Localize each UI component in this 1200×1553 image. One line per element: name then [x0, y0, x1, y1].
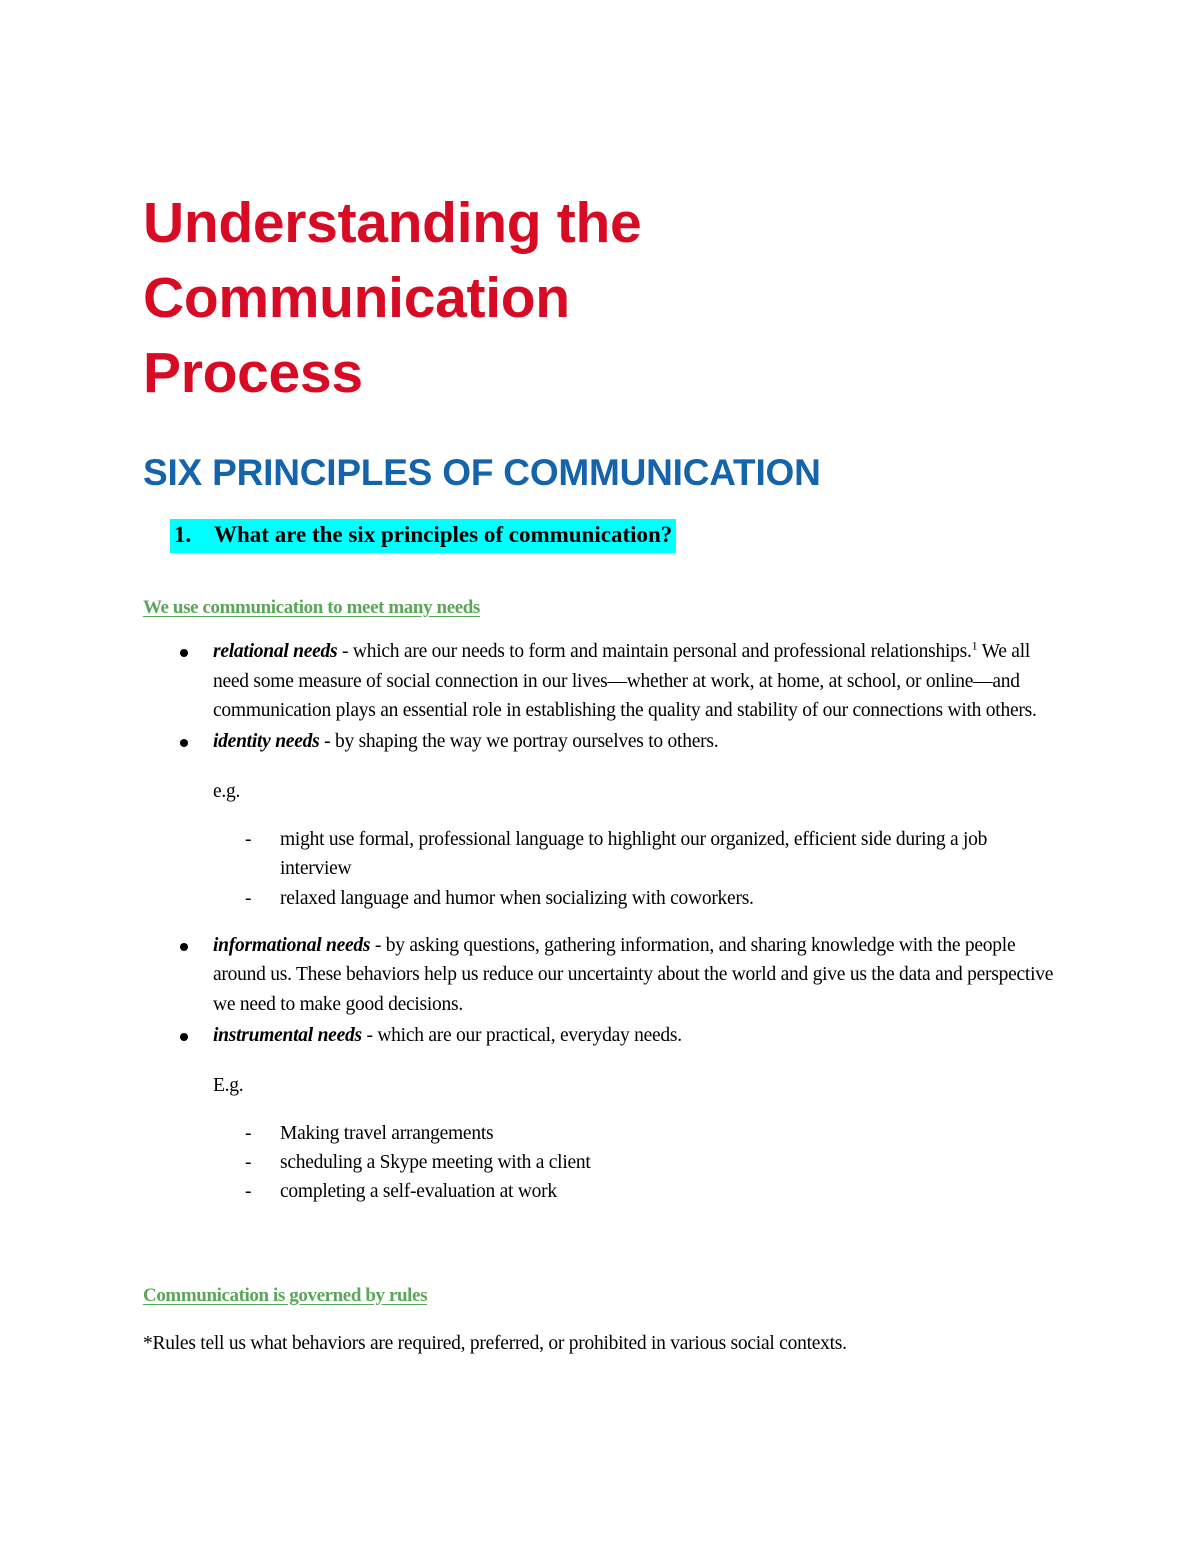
section-heading: SIX PRINCIPLES OF COMMUNICATION [143, 412, 1063, 493]
page-title-line-3: Process [143, 336, 903, 411]
question-number: 1. [174, 521, 214, 550]
rules-note: *Rules tell us what behaviors are requir… [143, 1307, 1063, 1358]
page-title-line-2: Communication [143, 261, 903, 336]
subheading-rules: Communication is governed by rules [143, 1207, 1063, 1307]
bullet-instrumental-needs: instrumental needs - which are our pract… [143, 1021, 1063, 1051]
example-item: Making travel arrangements [143, 1119, 1063, 1148]
page-title: Understanding the Communication Process [143, 0, 903, 412]
example-item: might use formal, professional language … [143, 825, 1063, 884]
document-content: Understanding the Communication Process … [143, 0, 1063, 1358]
bullet-term: identity needs [213, 731, 319, 752]
bullet-term: relational needs [213, 641, 337, 662]
needs-bullet-list: relational needs - which are our needs t… [143, 619, 1063, 757]
question-text: What are the six principles of communica… [214, 522, 672, 547]
question-highlight: 1.What are the six principles of communi… [170, 519, 676, 553]
example-item: relaxed language and humor when socializ… [143, 884, 1063, 913]
example-item: scheduling a Skype meeting with a client [143, 1148, 1063, 1177]
question-list-item: 1.What are the six principles of communi… [143, 519, 676, 553]
page-title-line-1: Understanding the [143, 186, 903, 261]
bullet-term: informational needs [213, 935, 370, 956]
bullet-relational-needs: relational needs - which are our needs t… [143, 637, 1063, 726]
bullet-separator: - [319, 731, 335, 752]
example-list-instrumental: Making travel arrangements scheduling a … [143, 1101, 1063, 1207]
bullet-separator: - [337, 641, 353, 662]
bullet-identity-needs: identity needs - by shaping the way we p… [143, 727, 1063, 757]
example-list-identity: might use formal, professional language … [143, 807, 1063, 913]
bullet-body: which are our practical, everyday needs. [377, 1025, 682, 1046]
needs-bullet-list-continued: informational needs - by asking question… [143, 913, 1063, 1051]
example-label-instrumental: E.g. [143, 1051, 1063, 1101]
question-list: 1.What are the six principles of communi… [143, 493, 1063, 553]
document-page: Understanding the Communication Process … [0, 0, 1200, 1553]
example-item: completing a self-evaluation at work [143, 1177, 1063, 1206]
bullet-separator: - [370, 935, 386, 956]
bullet-body-part-1: which are our needs to form and maintain… [353, 641, 972, 662]
bullet-separator: - [362, 1025, 378, 1046]
example-label-identity: e.g. [143, 757, 1063, 807]
subheading-needs: We use communication to meet many needs [143, 553, 1063, 619]
bullet-term: instrumental needs [213, 1025, 362, 1046]
bullet-body: by shaping the way we portray ourselves … [335, 731, 718, 752]
bullet-informational-needs: informational needs - by asking question… [143, 931, 1063, 1020]
